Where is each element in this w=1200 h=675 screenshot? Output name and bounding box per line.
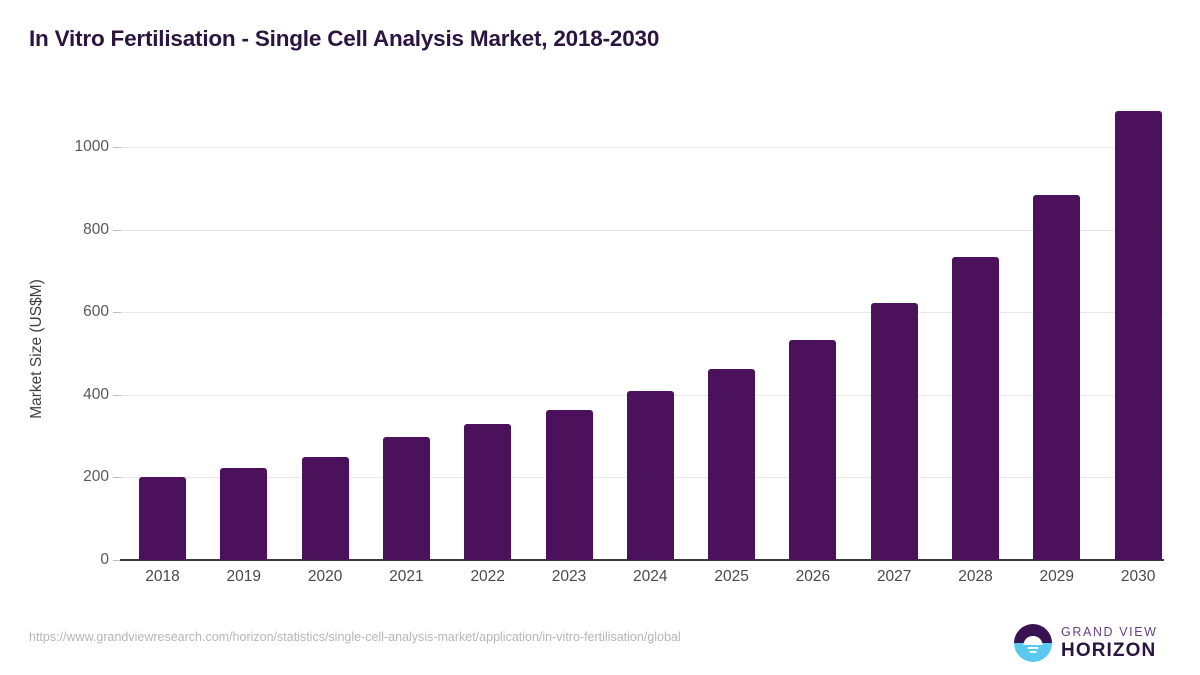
bar[interactable] [1115,111,1162,560]
bar[interactable] [627,391,674,560]
x-tick-label: 2026 [773,568,853,586]
x-tick-label: 2024 [610,568,690,586]
bar[interactable] [789,340,836,560]
bar[interactable] [302,457,349,560]
y-tick-mark [113,147,121,148]
logo-wordmark: GRAND VIEW HORIZON [1061,625,1158,661]
chart-page: In Vitro Fertilisation - Single Cell Ana… [0,0,1200,675]
x-tick-label: 2020 [285,568,365,586]
gridline [120,312,1164,313]
bar[interactable] [546,410,593,560]
bar[interactable] [952,257,999,560]
x-tick-label: 2021 [366,568,446,586]
bar[interactable] [220,468,267,560]
logo-line-1: GRAND VIEW [1061,625,1158,640]
logo-line-2: HORIZON [1061,640,1158,661]
x-tick-label: 2019 [204,568,284,586]
x-tick-label: 2023 [529,568,609,586]
x-tick-label: 2029 [1017,568,1097,586]
y-tick-label: 800 [29,221,109,239]
bar[interactable] [464,424,511,560]
y-tick-label: 600 [29,303,109,321]
x-tick-label: 2018 [123,568,203,586]
grand-view-horizon-logo: GRAND VIEW HORIZON [1013,621,1165,665]
bar[interactable] [871,303,918,560]
bar[interactable] [1033,195,1080,560]
bar[interactable] [383,437,430,560]
x-tick-label: 2022 [448,568,528,586]
horizon-logo-icon [1013,623,1053,663]
y-tick-mark [113,230,121,231]
y-tick-label: 0 [29,551,109,569]
y-tick-mark [113,395,121,396]
bar[interactable] [708,369,755,560]
y-tick-mark [113,477,121,478]
y-tick-label: 200 [29,468,109,486]
y-axis-title: Market Size (US$M) [28,249,46,449]
bar-chart: Market Size (US$M) 02004006008001000 201… [0,0,1200,675]
x-tick-label: 2028 [936,568,1016,586]
y-tick-label: 400 [29,386,109,404]
x-tick-label: 2027 [854,568,934,586]
source-url[interactable]: https://www.grandviewresearch.com/horizo… [29,630,681,644]
x-tick-label: 2030 [1098,568,1178,586]
gridline [120,147,1164,148]
x-tick-label: 2025 [692,568,772,586]
y-tick-label: 1000 [29,138,109,156]
bar[interactable] [139,477,186,560]
gridline [120,230,1164,231]
y-tick-mark [113,312,121,313]
